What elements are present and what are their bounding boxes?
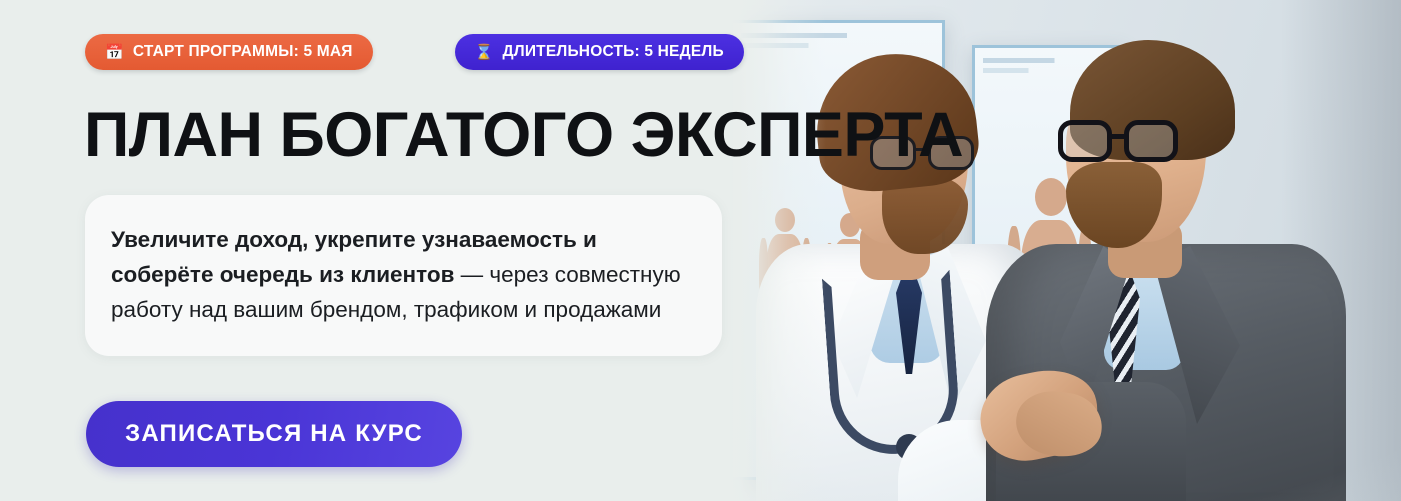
photo-scene (700, 0, 1401, 501)
duration-badge[interactable]: ⌛ ДЛИТЕЛЬНОСТЬ: 5 НЕДЕЛЬ (455, 34, 744, 70)
start-date-badge-label: СТАРТ ПРОГРАММЫ: 5 МАЯ (133, 43, 353, 61)
enroll-button[interactable]: ЗАПИСАТЬСЯ НА КУРС (86, 401, 462, 467)
hourglass-icon: ⌛ (475, 45, 494, 60)
promo-banner: 📅 СТАРТ ПРОГРАММЫ: 5 МАЯ ⌛ ДЛИТЕЛЬНОСТЬ:… (0, 0, 1401, 501)
calendar-icon: 📅 (105, 45, 124, 60)
badge-row: 📅 СТАРТ ПРОГРАММЫ: 5 МАЯ ⌛ ДЛИТЕЛЬНОСТЬ:… (85, 34, 744, 70)
description-text: Увеличите доход, укрепите узнаваемость и… (85, 223, 722, 328)
businessman-glasses (1058, 120, 1184, 162)
description-card: Увеличите доход, укрепите узнаваемость и… (85, 195, 722, 356)
content-column: 📅 СТАРТ ПРОГРАММЫ: 5 МАЯ ⌛ ДЛИТЕЛЬНОСТЬ:… (0, 0, 760, 501)
start-date-badge[interactable]: 📅 СТАРТ ПРОГРАММЫ: 5 МАЯ (85, 34, 373, 70)
page-title: ПЛАН БОГАТОГО ЭКСПЕРТА (84, 104, 963, 167)
hero-photo (700, 0, 1401, 501)
duration-badge-label: ДЛИТЕЛЬНОСТЬ: 5 НЕДЕЛЬ (503, 43, 724, 61)
